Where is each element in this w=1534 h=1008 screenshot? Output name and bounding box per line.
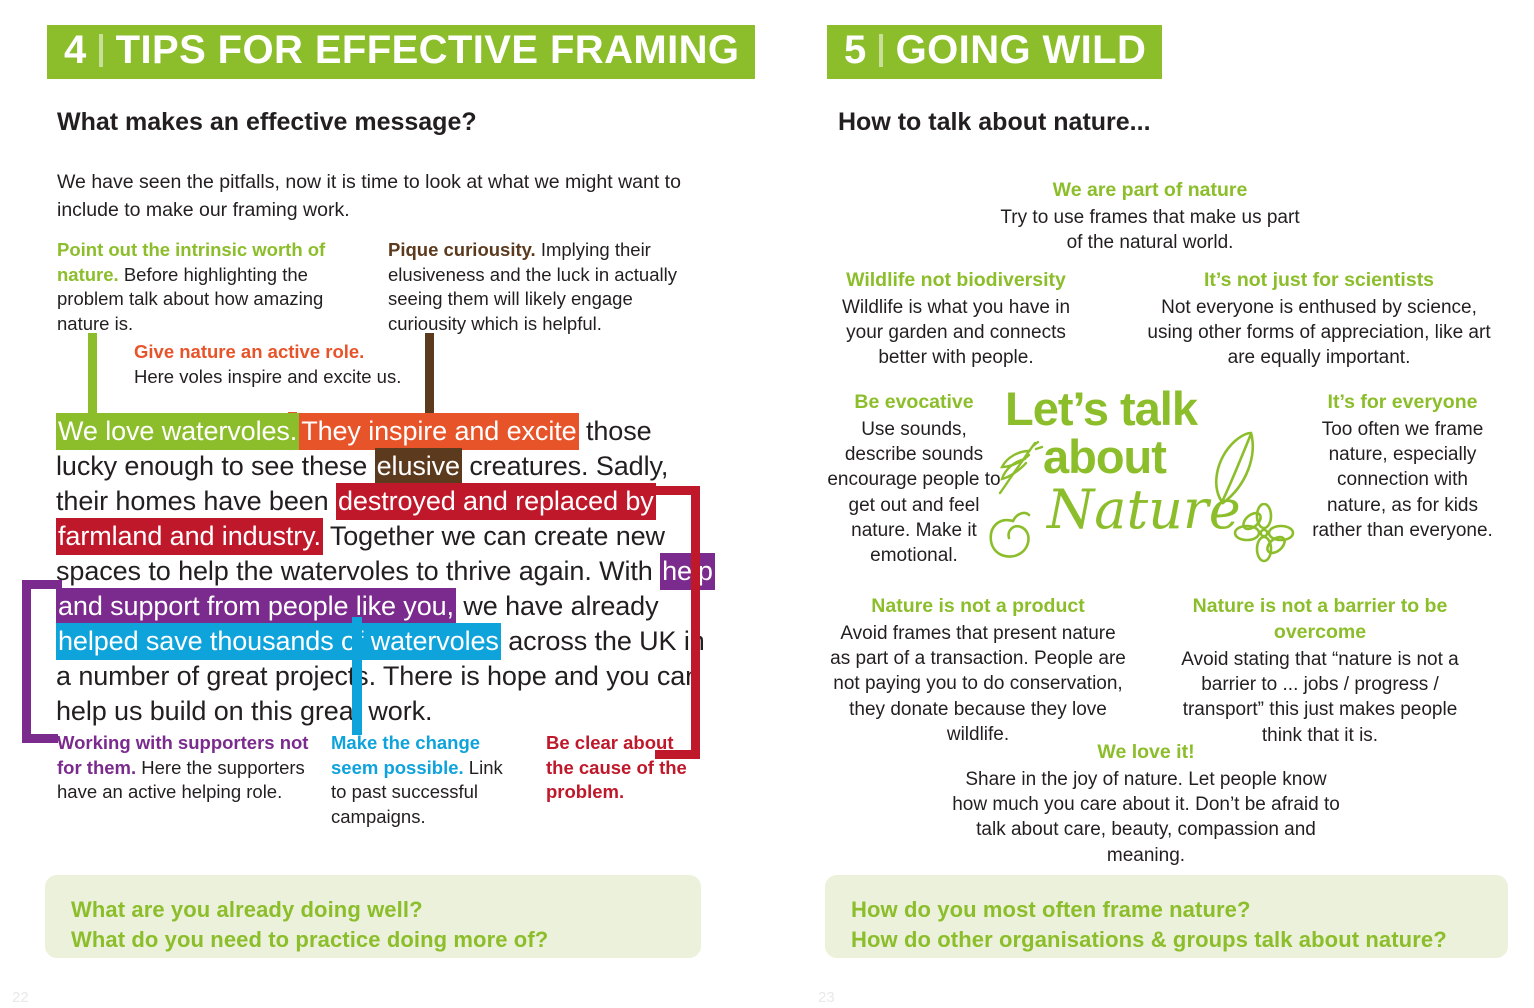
highlighted-story-paragraph: We love watervoles.They inspire and exci… xyxy=(56,414,716,729)
tip-nature-is-not-a-product: Nature is not a product Avoid frames tha… xyxy=(828,594,1128,747)
tip-nature-is-not-a-barrier-body: Avoid stating that “nature is not a barr… xyxy=(1174,647,1466,748)
flower-icon xyxy=(1233,503,1295,563)
note-active-role: Give nature an active role. Here voles i… xyxy=(134,340,454,389)
tip-part-of-nature-body: Try to use frames that make us part of t… xyxy=(990,205,1310,256)
left-page-number: 22 xyxy=(12,989,29,1006)
tip-part-of-nature: We are part of nature Try to use frames … xyxy=(990,178,1310,255)
note-be-clear-about-cause-title: Be clear about the cause of the problem. xyxy=(546,732,687,802)
snail-icon xyxy=(983,503,1045,565)
note-active-role-title: Give nature an active role. xyxy=(134,340,454,365)
note-intrinsic-worth: Point out the intrinsic worth of nature.… xyxy=(57,238,347,336)
right-prompt-line-1: How do you most often frame nature? xyxy=(851,895,1482,925)
banner-separator xyxy=(99,34,103,67)
right-column: 5 GOING WILD How to talk about nature...… xyxy=(800,0,1534,1008)
tip-nature-is-not-a-barrier-title: Nature is not a barrier to be overcome xyxy=(1174,594,1466,646)
story-plain-4: we have already xyxy=(456,591,659,621)
note-make-change-possible-title: Make the change seem possible. xyxy=(331,732,480,778)
connector-blue-stem xyxy=(352,617,362,735)
left-prompt-line-1: What are you already doing well? xyxy=(71,895,675,925)
highlight-green-intrinsic: We love watervoles. xyxy=(56,413,299,450)
tip-nature-is-not-a-barrier: Nature is not a barrier to be overcome A… xyxy=(1174,594,1466,748)
connector-purple-vertical xyxy=(22,580,31,743)
note-active-role-body: Here voles inspire and excite us. xyxy=(134,366,401,387)
tip-not-just-for-scientists-title: It’s not just for scientists xyxy=(1144,268,1494,294)
right-page-number: 23 xyxy=(818,989,835,1006)
tip-nature-is-not-a-product-title: Nature is not a product xyxy=(828,594,1128,620)
tip-we-love-it-title: We love it! xyxy=(946,740,1346,766)
right-prompt-box: How do you most often frame nature? How … xyxy=(825,875,1508,958)
right-prompt-line-2: How do other organisations & groups talk… xyxy=(851,925,1482,955)
tip-nature-is-not-a-product-body: Avoid frames that present nature as part… xyxy=(828,621,1128,747)
section-banner-5: 5 GOING WILD xyxy=(827,25,1162,79)
left-column: 4 TIPS FOR EFFECTIVE FRAMING What makes … xyxy=(0,0,760,1008)
left-prompt-box: What are you already doing well? What do… xyxy=(45,875,701,958)
connector-green-stem xyxy=(88,333,97,418)
tip-its-for-everyone: It’s for everyone Too often we frame nat… xyxy=(1305,390,1500,543)
tip-be-evocative: Be evocative Use sounds, describe sounds… xyxy=(825,390,1003,569)
left-intro-paragraph: We have seen the pitfalls, now it is tim… xyxy=(57,168,697,225)
tip-not-just-for-scientists-body: Not everyone is enthused by science, usi… xyxy=(1144,295,1494,371)
tip-wildlife-not-biodiversity-title: Wildlife not biodiversity xyxy=(822,268,1090,294)
section-title: GOING WILD xyxy=(896,30,1147,70)
tip-we-love-it: We love it! Share in the joy of nature. … xyxy=(946,740,1346,868)
section-banner-4: 4 TIPS FOR EFFECTIVE FRAMING xyxy=(47,25,755,79)
note-make-change-possible: Make the change seem possible. Link to p… xyxy=(331,731,521,829)
connector-purple-bottom xyxy=(22,734,58,743)
tip-its-for-everyone-title: It’s for everyone xyxy=(1305,390,1500,416)
tip-be-evocative-body: Use sounds, describe sounds encourage pe… xyxy=(825,417,1003,569)
left-subheading: What makes an effective message? xyxy=(57,108,477,137)
wordart-line-2: about xyxy=(1043,433,1166,480)
tip-part-of-nature-title: We are part of nature xyxy=(990,178,1310,204)
highlight-blue-possible: helped save thousands of watervoles xyxy=(56,623,501,660)
tip-be-evocative-title: Be evocative xyxy=(825,390,1003,416)
tip-not-just-for-scientists: It’s not just for scientists Not everyon… xyxy=(1144,268,1494,371)
highlight-orange-active-role: They inspire and excite xyxy=(299,413,578,450)
section-number: 5 xyxy=(844,30,867,70)
note-be-clear-about-cause: Be clear about the cause of the problem. xyxy=(546,731,696,805)
tip-we-love-it-body: Share in the joy of nature. Let people k… xyxy=(946,767,1346,868)
tip-wildlife-not-biodiversity: Wildlife not biodiversity Wildlife is wh… xyxy=(822,268,1090,371)
section-title: TIPS FOR EFFECTIVE FRAMING xyxy=(116,30,740,70)
right-subheading: How to talk about nature... xyxy=(838,108,1151,137)
spread-page: 4 TIPS FOR EFFECTIVE FRAMING What makes … xyxy=(0,0,1534,1008)
note-working-with-supporters: Working with supporters not for them. He… xyxy=(57,731,312,805)
note-pique-curiousity: Pique curiousity. Implying their elusive… xyxy=(388,238,698,336)
connector-red-vertical xyxy=(691,486,700,759)
left-prompt-line-2: What do you need to practice doing more … xyxy=(71,925,675,955)
banner-separator xyxy=(879,34,883,67)
dragonfly-icon xyxy=(993,437,1053,499)
wordart-line-1: Let’s talk xyxy=(1005,385,1197,432)
section-number: 4 xyxy=(64,30,87,70)
note-pique-curiousity-title: Pique curiousity. xyxy=(388,239,536,260)
leaf-icon xyxy=(1205,427,1263,513)
tip-its-for-everyone-body: Too often we frame nature, especially co… xyxy=(1305,417,1500,543)
lets-talk-about-nature-graphic: Let’s talk about Nature xyxy=(995,385,1275,570)
highlight-brown-elusive: elusive xyxy=(375,448,462,485)
tip-wildlife-not-biodiversity-body: Wildlife is what you have in your garden… xyxy=(822,295,1090,371)
